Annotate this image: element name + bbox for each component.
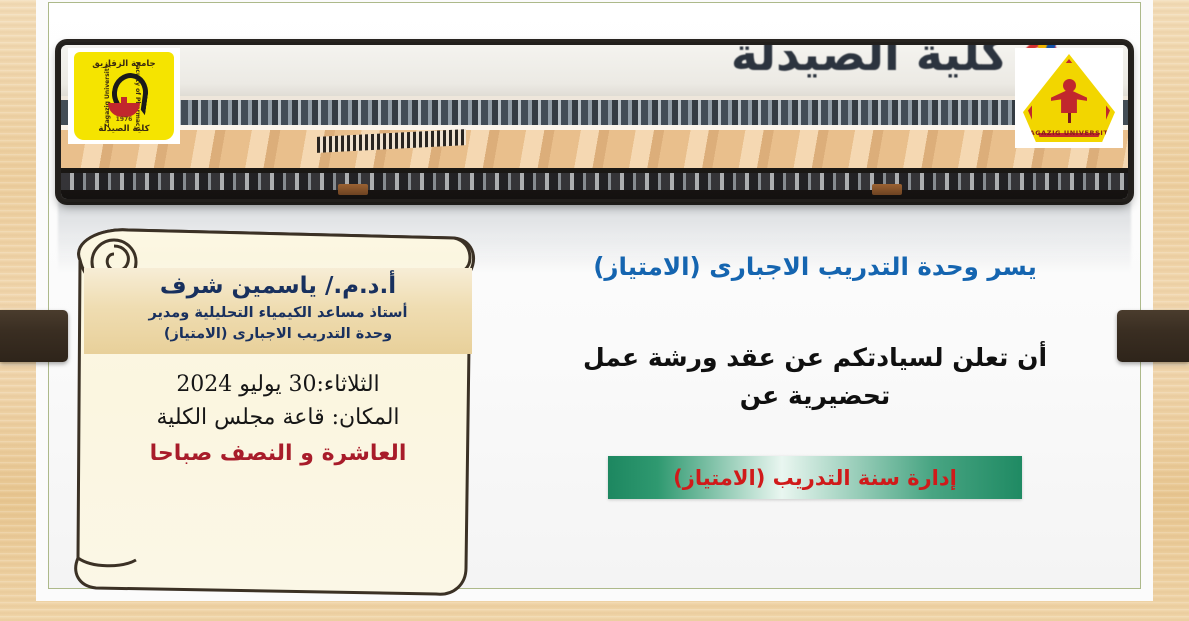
zagazig-university-logo: ZAGAZIG UNIVERSITY (1015, 48, 1123, 148)
statue-head (1063, 79, 1076, 92)
ribbon-bar-right (1117, 310, 1189, 362)
building-facade-top: كلية الصيدلة (61, 45, 1128, 100)
announcement-body: أن تعلن لسيادتكم عن عقد ورشة عمل تحضيرية… (520, 339, 1110, 414)
building-ground-floor (61, 168, 1128, 199)
university-shield-icon: ZAGAZIG UNIVERSITY (1023, 54, 1115, 142)
scroll-content: أ.د.م./ ياسمين شرف أستاذ مساعد الكيمياء … (84, 268, 472, 588)
ribbon-bar-left (0, 310, 68, 362)
university-logo-text: ZAGAZIG UNIVERSITY (1023, 129, 1115, 137)
speaker-info-box: أ.د.م./ ياسمين شرف أستاذ مساعد الكيمياء … (84, 268, 472, 354)
building-signage: كلية الصيدلة (296, 46, 1064, 63)
pharmacy-shield-icon: جامعة الزقازيق Zagazig University Facult… (74, 52, 174, 140)
pharmacy-logo-arabic-bottom: كلية الصيدلة (74, 124, 174, 134)
faculty-building-banner: كلية الصيدلة جامعة الزقازيق Zagazig Univ… (58, 42, 1131, 202)
pharmacy-logo-year: 1976 (74, 116, 174, 123)
cup-icon (108, 103, 140, 117)
announcement-body-line-1: أن تعلن لسيادتكم عن عقد ورشة عمل (520, 339, 1110, 377)
building-pillar (872, 184, 902, 195)
announcement-slide: كلية الصيدلة جامعة الزقازيق Zagazig Univ… (0, 0, 1189, 621)
speaker-title-line-2: وحدة التدريب الاجبارى (الامتياز) (90, 324, 466, 345)
event-location: المكان: قاعة مجلس الكلية (84, 403, 472, 434)
department-badge: إدارة سنة التدريب (الامتياز) (608, 456, 1022, 499)
department-badge-label: إدارة سنة التدريب (الامتياز) (673, 466, 957, 490)
speaker-scroll-card: أ.د.م./ ياسمين شرف أستاذ مساعد الكيمياء … (62, 216, 492, 601)
faculty-of-pharmacy-logo: جامعة الزقازيق Zagazig University Facult… (68, 48, 180, 144)
pharmacy-logo-arabic-top: جامعة الزقازيق (74, 59, 174, 69)
statue-body (1051, 91, 1087, 113)
speaker-title: أستاذ مساعد الكيمياء التحليلية ومدير وحد… (90, 303, 466, 345)
farmer-statue-icon (1047, 79, 1091, 121)
speaker-name: أ.د.م./ ياسمين شرف (90, 272, 466, 301)
event-details: الثلاثاء:30 يوليو 2024 المكان: قاعة مجلس… (84, 370, 472, 470)
building-pillar (338, 184, 368, 195)
event-time: العاشرة و النصف صباحا (84, 439, 472, 470)
building-photo: كلية الصيدلة (61, 45, 1128, 199)
bowl-of-hygieia-icon (102, 73, 146, 119)
announcement-body-line-2: تحضيرية عن (520, 377, 1110, 415)
event-date: الثلاثاء:30 يوليو 2024 (84, 370, 472, 401)
announcement-heading: يسر وحدة التدريب الاجبارى (الامتياز) (520, 250, 1110, 283)
building-sign-text: كلية الصيدلة (731, 45, 1008, 81)
speaker-title-line-1: أستاذ مساعد الكيمياء التحليلية ومدير (90, 303, 466, 324)
announcement-column: يسر وحدة التدريب الاجبارى (الامتياز) أن … (520, 250, 1110, 499)
